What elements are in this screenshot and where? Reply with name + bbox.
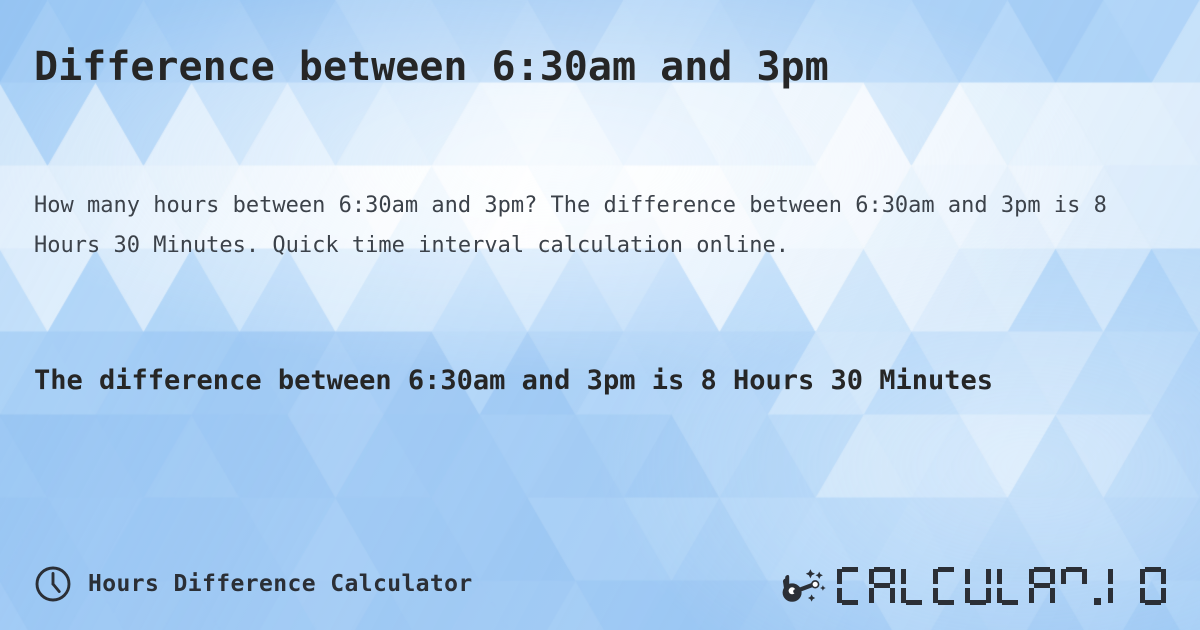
page-title: Difference between 6:30am and 3pm <box>34 44 829 91</box>
logo-letter-i <box>1108 567 1134 605</box>
footer-brand-label: Hours Difference Calculator <box>88 571 473 597</box>
site-logo[interactable] <box>778 562 1166 606</box>
hand-wand-sparkle-icon <box>778 562 830 606</box>
logo-letter-l1 <box>901 567 927 605</box>
logo-letter-c2 <box>933 567 959 605</box>
logo-letter-u <box>965 567 991 605</box>
page-container: Difference between 6:30am and 3pm How ma… <box>0 0 1200 630</box>
logo-separator-dot <box>1094 598 1101 605</box>
logo-letter-a2 <box>1029 567 1055 605</box>
clock-icon <box>34 565 72 603</box>
logo-letter-a1 <box>869 567 895 605</box>
logo-wordmark <box>837 563 1166 605</box>
logo-letter-o <box>1140 567 1166 605</box>
footer-brand[interactable]: Hours Difference Calculator <box>34 565 473 603</box>
result-heading: The difference between 6:30am and 3pm is… <box>34 356 1114 405</box>
footer: Hours Difference Calculator <box>0 538 1200 630</box>
logo-letter-c1 <box>837 567 863 605</box>
intro-paragraph: How many hours between 6:30am and 3pm? T… <box>34 186 1124 266</box>
logo-letter-t <box>1061 567 1087 605</box>
logo-letter-l2 <box>997 567 1023 605</box>
